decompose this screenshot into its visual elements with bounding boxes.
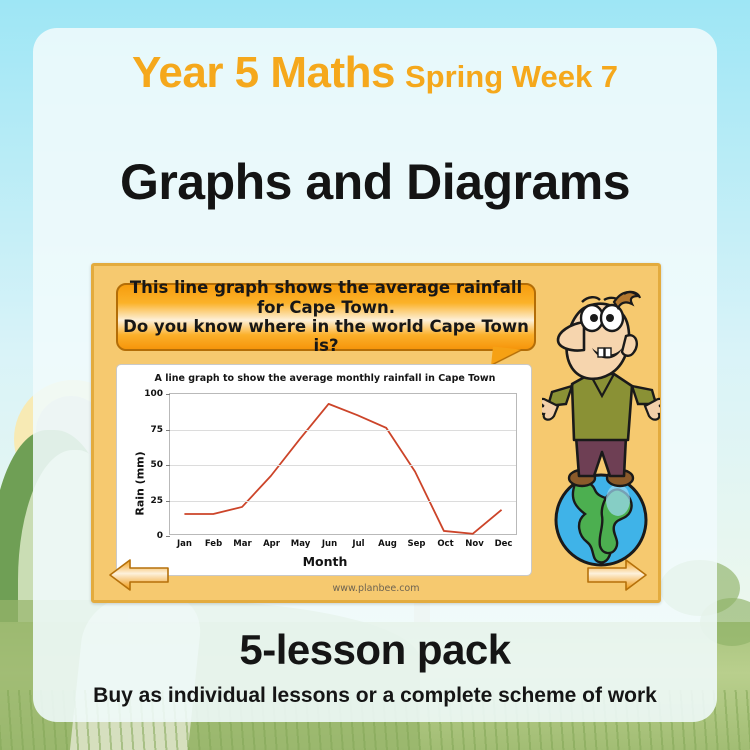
chart-plot-area: 0255075100JanFebMarAprMayJunJulAugSepOct… — [169, 393, 517, 535]
question-line-2: Do you know where in the world Cape Town… — [118, 317, 534, 356]
chart-x-tick: Apr — [263, 539, 280, 549]
chart-y-tick: 100 — [144, 389, 170, 399]
chart-x-tick: Nov — [465, 539, 484, 549]
page-title: Graphs and Diagrams — [33, 153, 717, 211]
site-url: www.planbee.com — [94, 583, 658, 594]
chart-gridline — [170, 465, 516, 466]
chart-x-tick: Dec — [495, 539, 513, 549]
chart-y-tick: 25 — [150, 496, 170, 506]
chart-y-tick: 75 — [150, 425, 170, 435]
speech-bubble: This line graph shows the average rainfa… — [116, 283, 536, 351]
chart-x-tick: Sep — [408, 539, 426, 549]
product-cover: Year 5 MathsSpring Week 7 Graphs and Dia… — [0, 0, 750, 750]
chart-title: A line graph to show the average monthly… — [117, 373, 533, 384]
chart-x-tick: Jan — [177, 539, 192, 549]
chart-gridline — [170, 430, 516, 431]
chart-x-tick: Aug — [378, 539, 397, 549]
chart-y-axis-label: Rain (mm) — [134, 439, 147, 529]
pack-label: 5-lesson pack — [33, 626, 717, 674]
chart-x-tick: Mar — [233, 539, 251, 549]
chart-x-tick: Feb — [205, 539, 222, 549]
chart-x-tick: May — [291, 539, 310, 549]
header-subtitle: Spring Week 7 — [405, 59, 618, 94]
question-line-1: This line graph shows the average rainfa… — [118, 278, 534, 317]
chart-x-tick: Jun — [322, 539, 337, 549]
chart-container: A line graph to show the average monthly… — [116, 364, 532, 576]
chart-x-axis-label: Month — [117, 554, 533, 569]
chart-x-tick: Oct — [437, 539, 453, 549]
content-card: Year 5 MathsSpring Week 7 Graphs and Dia… — [33, 28, 717, 722]
slide-preview[interactable]: This line graph shows the average rainfa… — [91, 263, 661, 603]
chart-y-tick: 0 — [157, 531, 170, 541]
header-main-title: Year 5 Maths — [132, 48, 395, 97]
chart-x-tick: Jul — [352, 539, 364, 549]
cartoon-man-on-globe-icon — [542, 288, 660, 570]
chart-gridline — [170, 501, 516, 502]
chart-y-tick: 50 — [150, 460, 170, 470]
pack-tagline: Buy as individual lessons or a complete … — [33, 684, 717, 708]
header: Year 5 MathsSpring Week 7 — [33, 48, 717, 98]
